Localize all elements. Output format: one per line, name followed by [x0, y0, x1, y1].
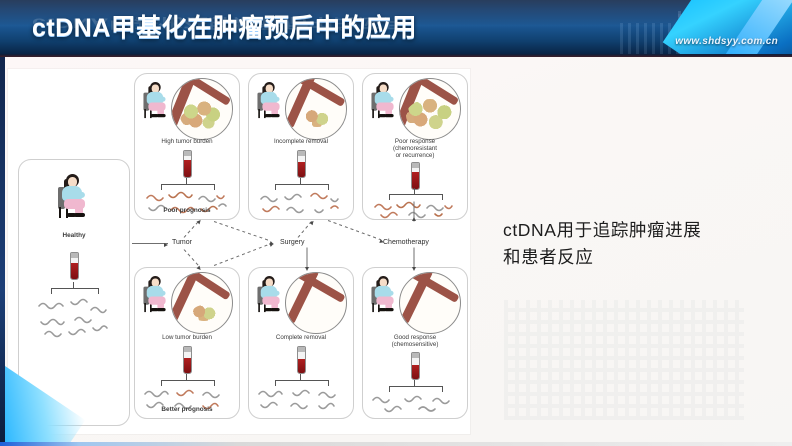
bracket [389, 194, 443, 200]
flow-label-surgery: Surgery [280, 239, 305, 246]
bracket [161, 380, 215, 386]
arrow-top-to-surgery [214, 221, 271, 241]
blood-tube-icon [411, 352, 420, 380]
chinese-note-line2: 和患者反应 [503, 244, 763, 271]
slide-body: Healthy [0, 57, 792, 446]
background-watermark [504, 300, 744, 420]
arrow-healthy-to-tumor [132, 243, 168, 244]
slide-left-border [0, 57, 5, 446]
magnifier-inset-tumor [171, 78, 233, 140]
panel-label-condition-line3: or recurrence) [363, 152, 467, 160]
magnifier-inset-sensitive [399, 272, 461, 334]
chinese-note: ctDNA用于追踪肿瘤进展 和患者反应 [503, 217, 763, 271]
dna-fragments-incomplete [259, 192, 345, 214]
bracket [275, 380, 329, 386]
panel-label-outcome: Better prognosis [135, 406, 239, 414]
panel-label-outcome: Poor prognosis [135, 207, 239, 215]
panel-incomplete-removal: Incomplete removal [248, 73, 354, 220]
panel-label-condition: Incomplete removal [249, 138, 353, 146]
panel-label-condition: Complete removal [249, 334, 353, 342]
panel-poor-response: Poor response (chemoresistant or recurre… [362, 73, 468, 220]
slide-header: ctDNA甲基化在肿瘤预后中的应用 ctDNA甲基化在肿瘤预后中的应用 www.… [0, 0, 792, 57]
page-title: ctDNA甲基化在肿瘤预后中的应用 [32, 8, 417, 44]
bracket [275, 184, 329, 190]
flow-label-chemotherapy: Chemotherapy [383, 239, 429, 246]
panel-label-condition-line2: (chemosensitive) [363, 341, 467, 349]
slide-canvas: ctDNA甲基化在肿瘤预后中的应用 ctDNA甲基化在肿瘤预后中的应用 www.… [0, 0, 792, 446]
chinese-note-line1: ctDNA用于追踪肿瘤进展 [503, 217, 763, 244]
bracket [161, 184, 215, 190]
site-url: www.shdsyy.com.cn [675, 36, 778, 47]
magnifier-inset-small-tumor [171, 272, 233, 334]
person-illustration [141, 82, 169, 118]
slide-bottom-border [0, 442, 792, 446]
person-illustration [369, 82, 397, 118]
person-illustration [255, 276, 283, 312]
person-illustration [141, 276, 169, 312]
blood-tube-icon [297, 150, 306, 178]
dna-fragments-normal [35, 298, 115, 340]
arrow-surgery-down [307, 248, 308, 268]
bracket [389, 386, 443, 392]
person-illustration [55, 174, 89, 218]
blood-tube-icon [183, 150, 192, 178]
dna-fragments-poor-response [373, 201, 459, 217]
dna-fragments-good-response [371, 394, 459, 412]
magnifier-inset-residual [285, 78, 347, 140]
arrow-surgery-to-chemo-top [328, 220, 381, 240]
blood-tube-icon [411, 162, 420, 190]
panel-good-response: Good response (chemosensitive) [362, 267, 468, 419]
panel-complete-removal: Complete removal [248, 267, 354, 419]
magnifier-inset-resistant [399, 78, 461, 140]
panel-high-tumor-burden: High tumor burden [134, 73, 240, 220]
blood-tube-icon [70, 252, 79, 280]
person-illustration [369, 276, 397, 312]
bracket [51, 288, 99, 294]
arrow-chemo-down [414, 248, 415, 268]
blood-tube-icon [183, 346, 192, 374]
flow-label-tumor: Tumor [172, 239, 192, 246]
arrow-tumor-down [184, 249, 201, 268]
dna-fragments-complete-removal [257, 388, 345, 412]
figure-ctdna-prognosis: Healthy [8, 69, 470, 434]
person-illustration [255, 82, 283, 118]
panel-label-condition: High tumor burden [135, 138, 239, 146]
magnifier-inset-clear [285, 272, 347, 334]
blood-tube-icon [297, 346, 306, 374]
panel-low-tumor-burden: Low tumor burden [134, 267, 240, 419]
panel-label-healthy: Healthy [19, 232, 129, 240]
arrow-bottom-to-surgery [214, 244, 270, 266]
panel-label-condition: Low tumor burden [135, 334, 239, 342]
